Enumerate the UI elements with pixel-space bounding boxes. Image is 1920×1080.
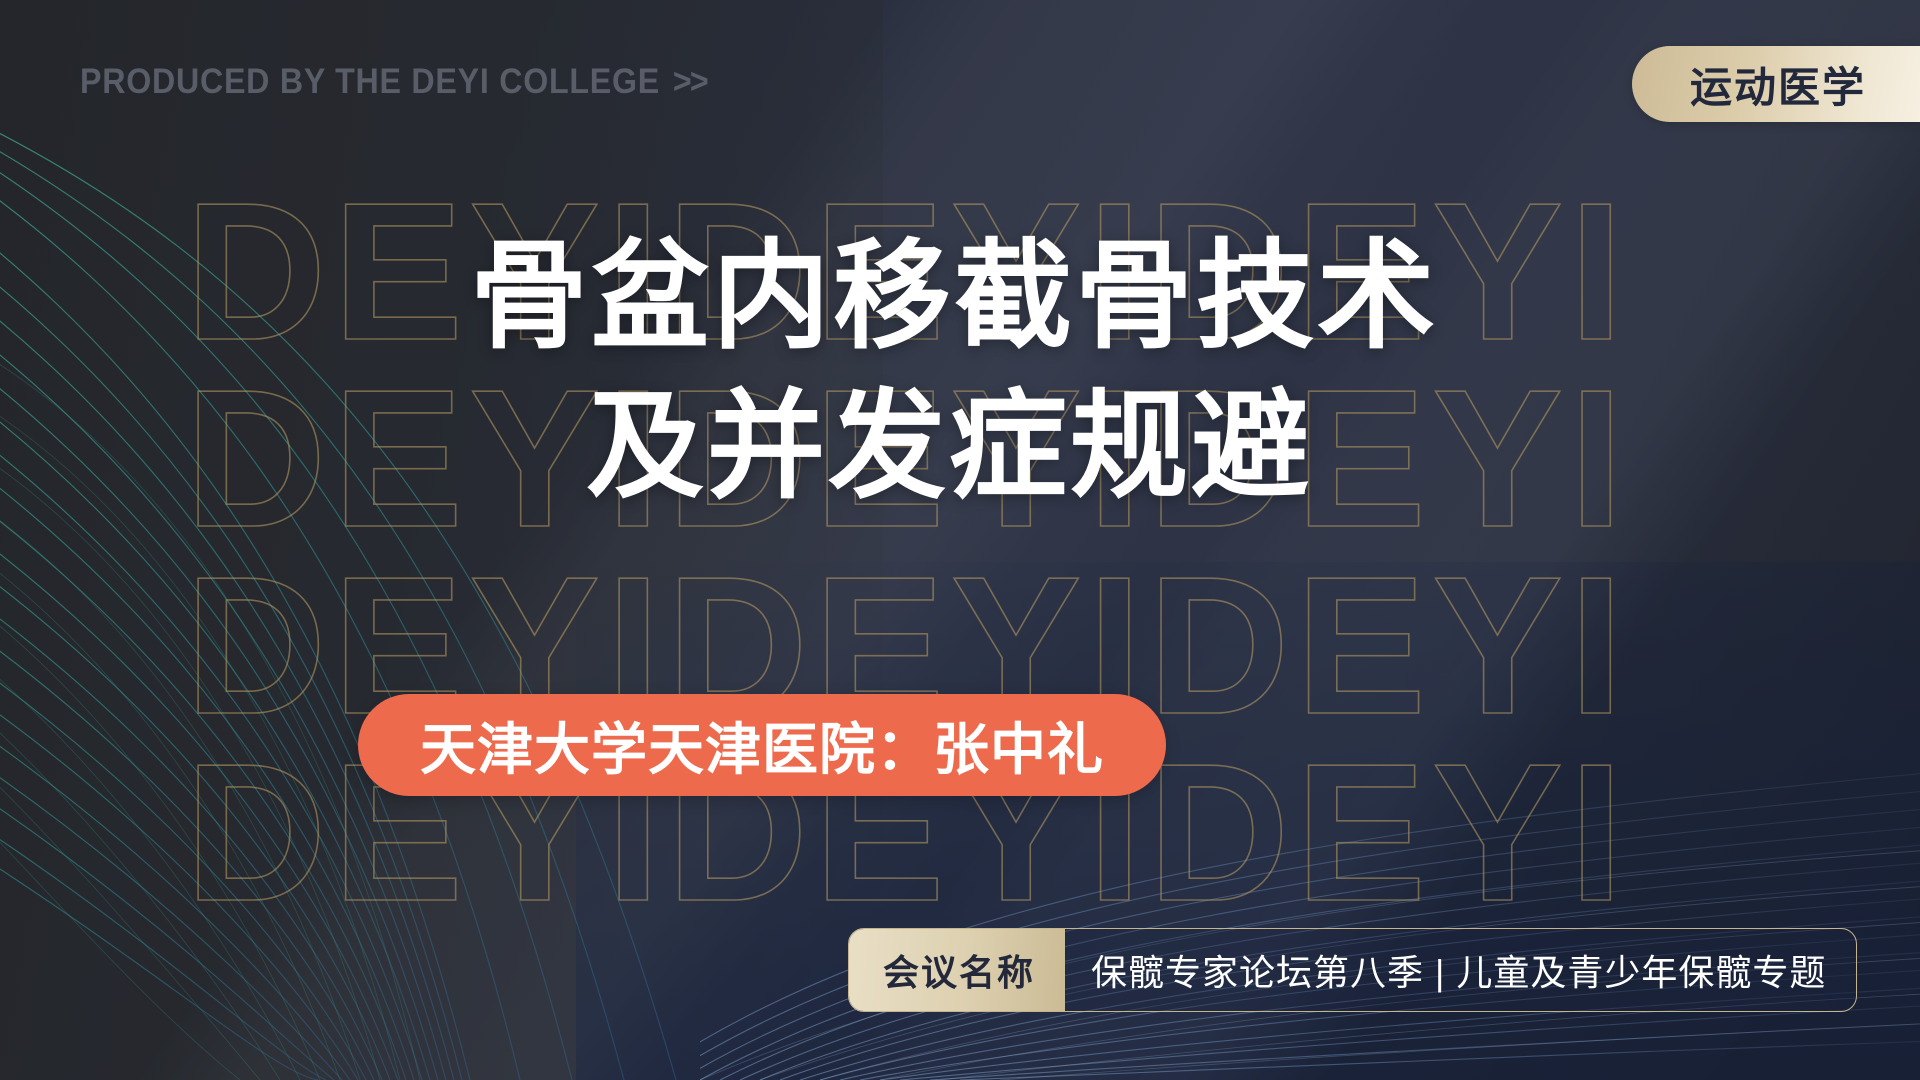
- category-badge-label: 运动医学: [1690, 54, 1866, 115]
- title-line-1: 骨盆内移截骨技术: [0, 222, 1920, 372]
- speaker-pill: 天津大学天津医院：张中礼: [358, 694, 1166, 796]
- presentation-slide: DEYIDEYIDEYI DEYIDEYIDEYI DEYIDEYIDEYI D…: [0, 0, 1920, 1080]
- page-title: 骨盆内移截骨技术 及并发症规避: [0, 222, 1920, 522]
- conference-bar: 会议名称 保髋专家论坛第八季 | 儿童及青少年保髋专题: [848, 928, 1857, 1012]
- speaker-name-label: 天津大学天津医院：张中礼: [420, 705, 1104, 786]
- conference-label-chip: 会议名称: [849, 929, 1065, 1011]
- category-badge: 运动医学: [1632, 46, 1920, 122]
- conference-label-text: 会议名称: [883, 944, 1035, 996]
- producer-kicker: PRODUCED BY THE DEYI COLLEGE>>: [80, 62, 707, 102]
- conference-name-wrap: 保髋专家论坛第八季 | 儿童及青少年保髋专题: [1065, 929, 1856, 1011]
- title-line-2: 及并发症规避: [0, 372, 1920, 522]
- chevron-double-right-icon: >>: [673, 62, 707, 101]
- conference-name-text: 保髋专家论坛第八季 | 儿童及青少年保髋专题: [1091, 944, 1826, 996]
- producer-kicker-text: PRODUCED BY THE DEYI COLLEGE: [80, 62, 660, 101]
